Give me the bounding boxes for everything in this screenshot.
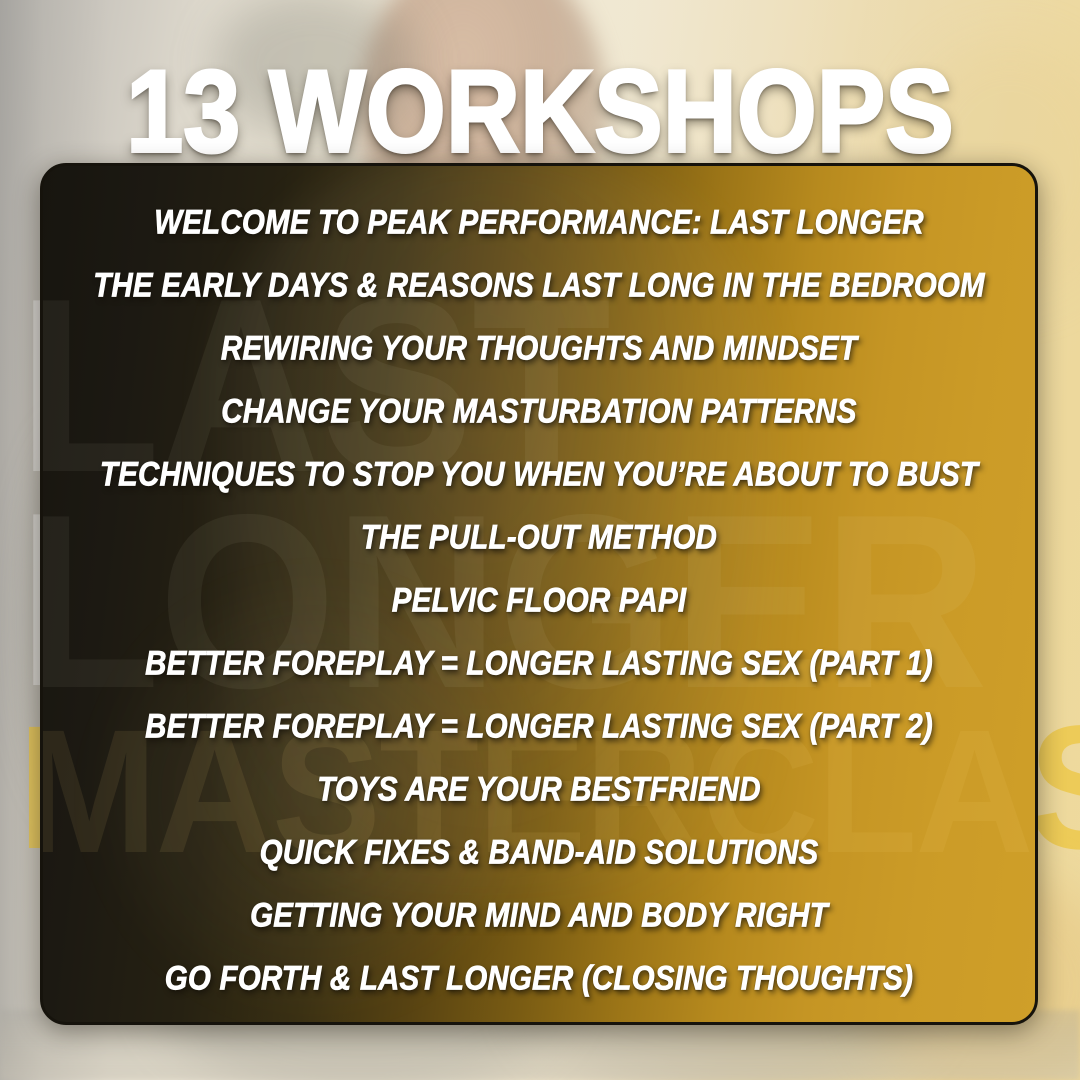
workshops-card: LAST LONGER MASTERCLASS WELCOME TO PEAK … — [40, 163, 1038, 1025]
list-item: GO FORTH & LAST LONGER (CLOSING THOUGHTS… — [165, 959, 913, 998]
list-item: QUICK FIXES & BAND-AID SOLUTIONS — [260, 833, 819, 872]
page-title: 13 WORKSHOPS — [0, 54, 1080, 171]
list-item: BETTER FOREPLAY = LONGER LASTING SEX (PA… — [145, 644, 933, 683]
workshops-list: WELCOME TO PEAK PERFORMANCE: LAST LONGER… — [43, 166, 1035, 1022]
list-item: REWIRING YOUR THOUGHTS AND MINDSET — [221, 329, 857, 368]
list-item: CHANGE YOUR MASTURBATION PATTERNS — [221, 392, 856, 431]
list-item: GETTING YOUR MIND AND BODY RIGHT — [250, 896, 828, 935]
list-item: BETTER FOREPLAY = LONGER LASTING SEX (PA… — [145, 707, 933, 746]
list-item: THE PULL-OUT METHOD — [361, 518, 717, 557]
promo-graphic: LAST LONGER MASTERCLASS 13 WORKSHOPS LAS… — [0, 0, 1080, 1080]
list-item: WELCOME TO PEAK PERFORMANCE: LAST LONGER — [154, 203, 924, 242]
list-item: TOYS ARE YOUR BESTFRIEND — [317, 770, 761, 809]
list-item: PELVIC FLOOR PAPI — [392, 581, 687, 620]
list-item: TECHNIQUES TO STOP YOU WHEN YOU’RE ABOUT… — [100, 455, 978, 494]
list-item: THE EARLY DAYS & REASONS LAST LONG IN TH… — [93, 266, 985, 305]
